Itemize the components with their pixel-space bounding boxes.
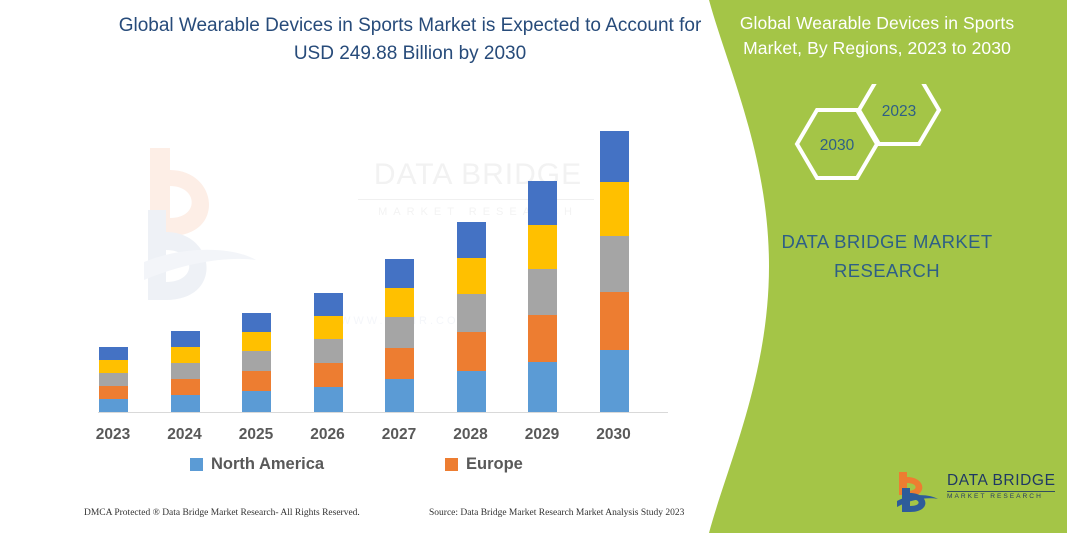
footer-copyright: DMCA Protected ® Data Bridge Market Rese… (84, 508, 360, 518)
x-label-2030: 2030 (583, 426, 645, 444)
legend-swatch (445, 458, 458, 471)
bar-segment-2026-middle-east-and-africa (314, 293, 343, 316)
watermark-text: DATA BRIDGE MARKET RESEARCH (358, 160, 598, 218)
bar-segment-2026-asia-pacific (314, 339, 343, 363)
legend-item-north-america[interactable]: North America (190, 455, 324, 474)
bar-segment-2027-asia-pacific (385, 317, 414, 348)
hexagons-icon: 2030 2023 (767, 84, 1067, 204)
x-label-2028: 2028 (440, 426, 502, 444)
x-label-2024: 2024 (154, 426, 216, 444)
x-label-2025: 2025 (225, 426, 287, 444)
watermark-logo-icon (140, 140, 260, 330)
panel-title: Global Wearable Devices in Sports Market… (709, 11, 1045, 62)
footer-source: Source: Data Bridge Market Research Mark… (429, 508, 684, 518)
x-label-2026: 2026 (297, 426, 359, 444)
bar-segment-2030-north-america (600, 350, 629, 412)
x-label-2027: 2027 (368, 426, 430, 444)
bar-segment-2025-middle-east-and-africa (242, 313, 271, 332)
bar-segment-2027-south-america (385, 288, 414, 317)
bar-segment-2026-south-america (314, 316, 343, 339)
bar-segment-2027-middle-east-and-africa (385, 259, 414, 288)
hexagon-label-2023: 2023 (882, 103, 916, 120)
watermark-line1: DATA BRIDGE (358, 160, 598, 190)
bar-segment-2023-middle-east-and-africa (99, 347, 128, 360)
bar-segment-2027-north-america (385, 379, 414, 412)
dbmr-logo-icon (895, 470, 941, 514)
bar-segment-2025-asia-pacific (242, 351, 271, 371)
x-label-2029: 2029 (511, 426, 573, 444)
logo-title: DATA BRIDGE (947, 473, 1059, 489)
dbmr-logo-text: DATA BRIDGE MARKET RESEARCH (947, 473, 1059, 501)
watermark-line2: MARKET RESEARCH (358, 207, 598, 218)
bar-segment-2025-south-america (242, 332, 271, 351)
bar-2027 (385, 259, 414, 412)
bar-segment-2028-north-america (457, 371, 486, 412)
bar-segment-2030-asia-pacific (600, 236, 629, 292)
bar-segment-2026-europe (314, 363, 343, 387)
footer: DMCA Protected ® Data Bridge Market Rese… (84, 508, 684, 524)
bar-segment-2024-south-america (171, 347, 200, 363)
infographic-canvas: Global Wearable Devices in Sports Market… (0, 0, 1067, 533)
legend-label: Europe (466, 455, 523, 474)
x-label-2023: 2023 (82, 426, 144, 444)
bar-segment-2023-north-america (99, 399, 128, 412)
bar-segment-2025-europe (242, 371, 271, 391)
bar-segment-2029-asia-pacific (528, 269, 557, 315)
bar-segment-2023-europe (99, 386, 128, 399)
bar-segment-2028-south-america (457, 258, 486, 294)
bar-segment-2029-middle-east-and-africa (528, 181, 557, 225)
dbmr-logo: DATA BRIDGE MARKET RESEARCH (895, 470, 1055, 516)
logo-subtitle: MARKET RESEARCH (947, 494, 1059, 501)
bar-segment-2029-north-america (528, 362, 557, 412)
x-axis-labels: 20232024202520262027202820292030 (98, 426, 670, 448)
bar-segment-2026-north-america (314, 387, 343, 412)
bar-segment-2023-south-america (99, 360, 128, 373)
brand-line1: DATA BRIDGE MARKET (727, 228, 1047, 257)
bar-segment-2024-north-america (171, 395, 200, 412)
bar-2024 (171, 331, 200, 412)
hexagon-label-2030: 2030 (820, 137, 855, 154)
bar-2025 (242, 313, 271, 412)
bar-segment-2028-asia-pacific (457, 294, 486, 332)
bar-2030 (600, 131, 629, 412)
brand-line2: RESEARCH (727, 257, 1047, 286)
bar-2029 (528, 181, 557, 412)
brand-name: DATA BRIDGE MARKET RESEARCH (727, 228, 1047, 285)
bar-segment-2029-south-america (528, 225, 557, 269)
x-axis-line (98, 412, 668, 413)
bar-segment-2030-south-america (600, 182, 629, 236)
legend-item-europe[interactable]: Europe (445, 455, 523, 474)
bar-segment-2023-asia-pacific (99, 373, 128, 386)
chart-legend: North AmericaEurope (190, 455, 580, 479)
logo-rule (947, 491, 1055, 492)
bar-segment-2025-north-america (242, 391, 271, 412)
bar-segment-2024-middle-east-and-africa (171, 331, 200, 347)
bar-segment-2024-europe (171, 379, 200, 395)
bar-segment-2028-europe (457, 332, 486, 371)
legend-swatch (190, 458, 203, 471)
legend-label: North America (211, 455, 324, 474)
bar-segment-2029-europe (528, 315, 557, 362)
green-panel: Global Wearable Devices in Sports Market… (687, 0, 1067, 533)
bar-2023 (99, 347, 128, 412)
bar-2026 (314, 293, 343, 412)
hexagon-badges: 2030 2023 (767, 84, 1067, 204)
bar-segment-2027-europe (385, 348, 414, 379)
bar-2028 (457, 222, 486, 412)
bar-segment-2030-europe (600, 292, 629, 350)
bar-segment-2030-middle-east-and-africa (600, 131, 629, 182)
bar-segment-2028-middle-east-and-africa (457, 222, 486, 258)
watermark-rule (358, 199, 594, 200)
chart-area: Global Wearable Devices in Sports Market… (0, 0, 710, 533)
bar-segment-2024-asia-pacific (171, 363, 200, 379)
page-title: Global Wearable Devices in Sports Market… (110, 12, 710, 67)
